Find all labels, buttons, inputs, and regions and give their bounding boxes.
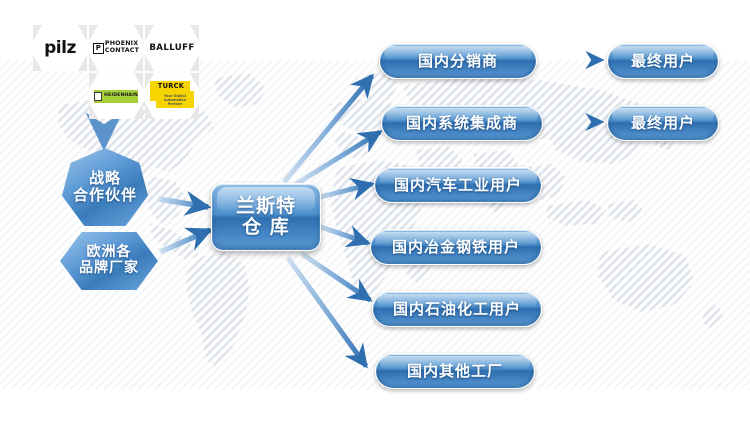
node-warehouse[interactable]: 兰斯特 仓 库 bbox=[211, 183, 321, 251]
turck-wordmark: TURCK bbox=[154, 83, 188, 90]
heidenhain-wordmark: HEIDENHAIN bbox=[104, 94, 138, 99]
heidenhain-logo: HEIDENHAIN bbox=[94, 90, 138, 103]
logo-tile-turck: TURCK Your Global Automation Partner bbox=[145, 73, 199, 119]
turck-tagline: Your Global Automation Partner bbox=[158, 94, 192, 106]
supplier-logo-panel: pilz P PHOENIX CONTACT BALLUFF HEIDENHAI… bbox=[33, 25, 199, 119]
phoenix-contact-logo: P PHOENIX CONTACT bbox=[93, 41, 139, 54]
node-system-integrator[interactable]: 国内系统集成商 bbox=[381, 105, 543, 141]
logo-tile-heidenhain: HEIDENHAIN bbox=[89, 73, 143, 119]
node-petrochemical-users[interactable]: 国内石油化工用户 bbox=[372, 291, 542, 327]
balluff-logo: BALLUFF bbox=[149, 44, 194, 53]
node-other-factories[interactable]: 国内其他工厂 bbox=[375, 353, 535, 389]
node-automotive-users[interactable]: 国内汽车工业用户 bbox=[374, 167, 542, 203]
node-label: 国内石油化工用户 bbox=[393, 301, 521, 318]
node-label: 国内汽车工业用户 bbox=[394, 177, 522, 194]
turck-logo: TURCK Your Global Automation Partner bbox=[150, 81, 194, 111]
pilz-logo: pilz bbox=[44, 40, 76, 57]
heidenhain-mark-icon bbox=[94, 92, 102, 101]
node-domestic-distributor[interactable]: 国内分销商 bbox=[379, 43, 537, 79]
node-end-user-1[interactable]: 最终用户 bbox=[607, 43, 719, 79]
phoenix-mark-icon: P bbox=[93, 43, 104, 54]
node-label: 最终用户 bbox=[631, 115, 695, 132]
phoenix-line-2: CONTACT bbox=[105, 48, 139, 55]
logo-tile-pilz: pilz bbox=[33, 25, 87, 71]
phoenix-wordmark: PHOENIX CONTACT bbox=[105, 41, 139, 54]
node-label: 国内分销商 bbox=[418, 53, 498, 70]
node-end-user-2[interactable]: 最终用户 bbox=[607, 105, 719, 141]
node-label: 战略 合作伙伴 bbox=[73, 170, 137, 204]
logo-tile-balluff: BALLUFF bbox=[145, 25, 199, 71]
node-steel-users[interactable]: 国内冶金钢铁用户 bbox=[370, 229, 542, 265]
node-label: 国内冶金钢铁用户 bbox=[392, 239, 520, 256]
logo-tile-spacer bbox=[33, 73, 87, 119]
node-label: 最终用户 bbox=[631, 53, 695, 70]
node-label: 国内其他工厂 bbox=[407, 363, 503, 380]
logo-tile-phoenix-contact: P PHOENIX CONTACT bbox=[89, 25, 143, 71]
diagram-canvas: pilz P PHOENIX CONTACT BALLUFF HEIDENHAI… bbox=[0, 0, 750, 432]
node-label: 国内系统集成商 bbox=[406, 115, 518, 132]
node-label: 兰斯特 仓 库 bbox=[236, 196, 296, 239]
node-label: 欧洲各 品牌厂家 bbox=[79, 245, 139, 276]
